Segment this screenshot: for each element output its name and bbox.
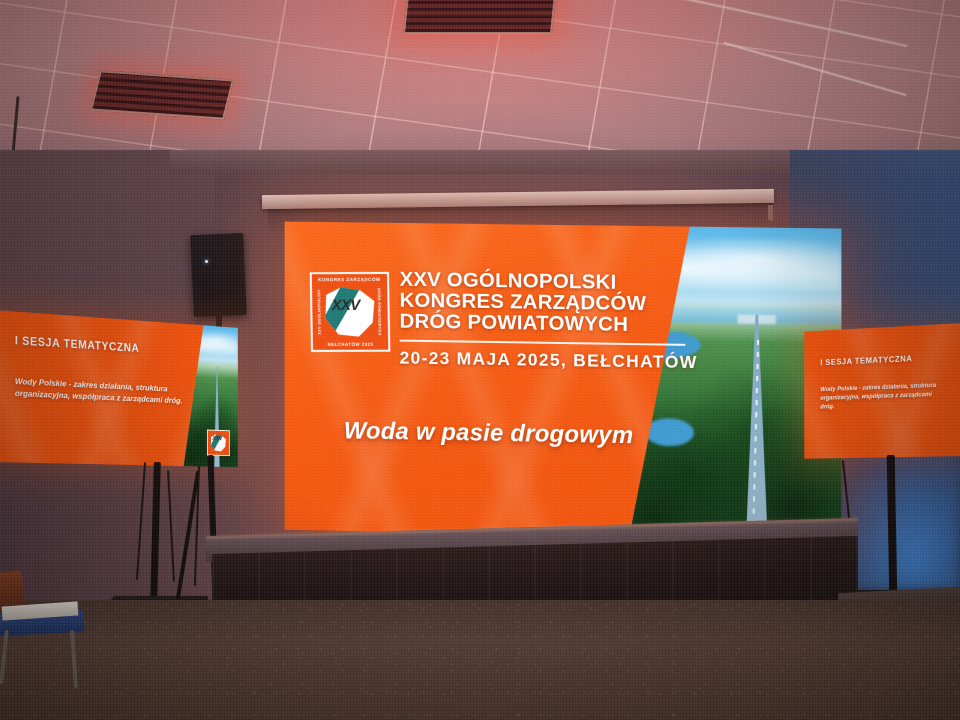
emblem-ring-right: DRÓG POWIATOWYCH [377,288,383,336]
carpet-texture [0,600,960,720]
emblem-roman-numeral: XXV [332,297,360,314]
ceiling-light-fixture [403,0,556,34]
roller-pull-knob [768,205,773,221]
emblem-ring-left: XXV OGÓLNOPOLSKI [316,289,322,334]
speaker-power-led-icon [205,260,208,263]
headline-line-3: DRÓG POWIATOWYCH [400,311,700,336]
mini-logo-numeral: XXV [212,436,222,442]
emblem-ring-top: KONGRES ZARZĄDCÓW [312,277,387,282]
headline-divider [400,339,686,345]
right-screen-body: Wody Polskie - zakres działania, struktu… [820,382,939,412]
session-subtitle: Woda w pasie drogowym [324,417,653,450]
conference-hall-photo: KONGRES ZARZĄDCÓW XXV OGÓLNOPOLSKI DRÓG … [0,0,960,720]
main-headline-block: XXV OGÓLNOPOLSKI KONGRES ZARZĄDCÓW DRÓG … [400,270,700,373]
carpet-floor [0,600,960,720]
mini-logo-shape: XXV [210,433,226,452]
wall-speaker [190,233,247,317]
right-led-screen[interactable]: I SESJA TEMATYCZNA Wody Polskie - zakres… [804,323,960,459]
mini-congress-logo: XXV [207,430,230,457]
congress-emblem: KONGRES ZARZĄDCÓW XXV OGÓLNOPOLSKI DRÓG … [310,272,391,352]
main-led-wall[interactable]: KONGRES ZARZĄDCÓW XXV OGÓLNOPOLSKI DRÓG … [285,222,842,541]
left-led-screen[interactable]: I SESJA TEMATYCZNA Wody Polskie - zakres… [0,310,238,467]
emblem-ring-bottom: BEŁCHATÓW 2025 [313,342,388,347]
emblem-poland-shape: XXV [323,285,377,339]
